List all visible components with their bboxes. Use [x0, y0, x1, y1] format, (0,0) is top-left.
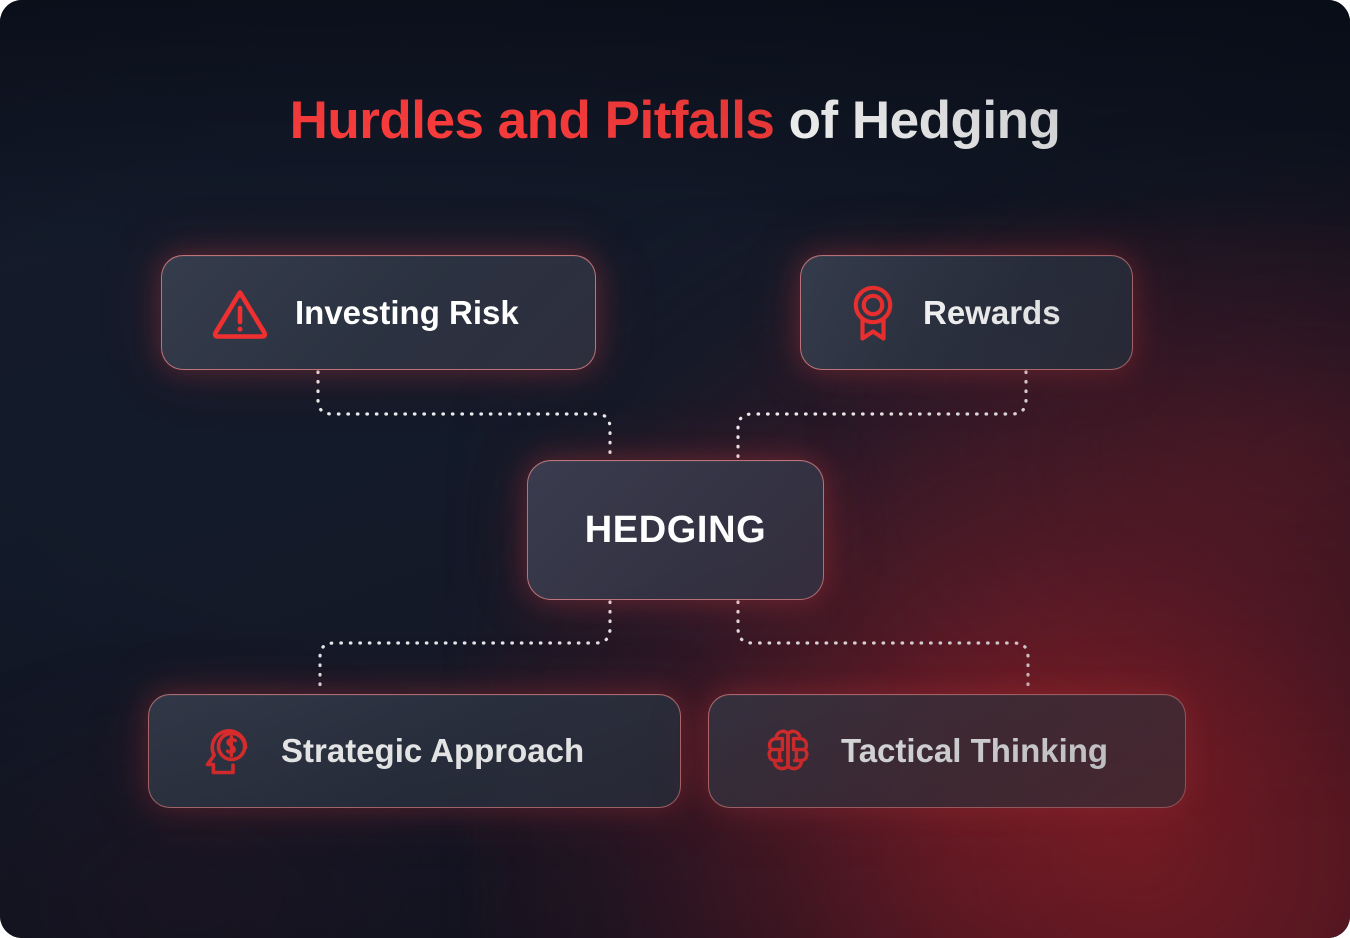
node-label-hedging: HEDGING	[585, 509, 767, 552]
page-title: Hurdles and Pitfalls of Hedging	[0, 92, 1350, 150]
node-label-rewards: Rewards	[923, 294, 1061, 332]
page-title-plain: of Hedging	[774, 91, 1060, 150]
node-label-investing-risk: Investing Risk	[295, 294, 519, 332]
brain-icon	[761, 724, 815, 778]
infographic-canvas: Hurdles and Pitfalls of Hedging Investin…	[0, 0, 1350, 938]
node-card-hedging[interactable]: HEDGING	[527, 460, 824, 600]
page-title-accent: Hurdles and Pitfalls	[290, 91, 775, 150]
node-card-tactical-thinking[interactable]: Tactical Thinking	[708, 694, 1186, 808]
node-card-investing-risk[interactable]: Investing Risk	[161, 255, 596, 370]
award-medal-icon	[849, 284, 897, 342]
warning-triangle-icon	[211, 286, 269, 340]
node-card-rewards[interactable]: Rewards	[800, 255, 1133, 370]
node-card-strategic-approach[interactable]: Strategic Approach	[148, 694, 681, 808]
node-label-strategic-approach: Strategic Approach	[281, 732, 584, 770]
node-label-tactical-thinking: Tactical Thinking	[841, 732, 1108, 770]
head-dollar-icon	[201, 723, 257, 779]
